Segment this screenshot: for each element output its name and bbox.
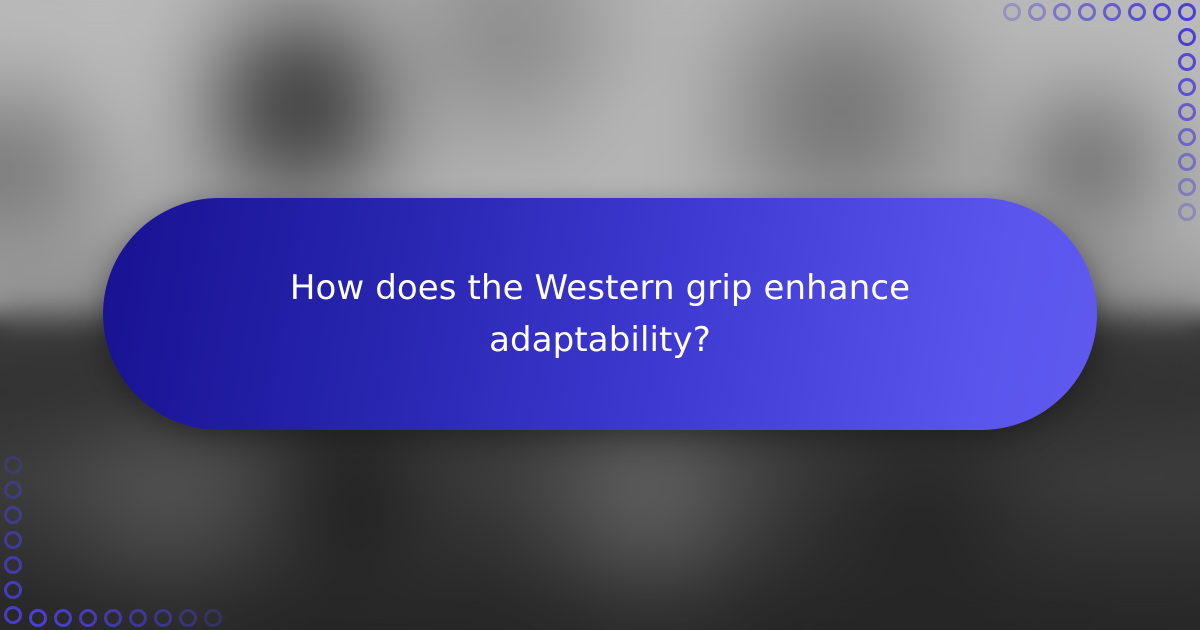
decorative-dot (1178, 203, 1196, 221)
decorative-dot (4, 606, 22, 624)
decorative-dot (1178, 28, 1196, 46)
decorative-dot (204, 609, 222, 627)
decorative-dots-top-right (1000, 0, 1200, 200)
decorative-dot (54, 609, 72, 627)
question-text: How does the Western grip enhance adapta… (270, 262, 930, 366)
decorative-dot (1103, 3, 1121, 21)
question-card: How does the Western grip enhance adapta… (103, 198, 1097, 430)
decorative-dot (1178, 3, 1196, 21)
decorative-dot (154, 609, 172, 627)
decorative-dot (1178, 178, 1196, 196)
decorative-dot (1003, 3, 1021, 21)
decorative-dot (29, 609, 47, 627)
decorative-dot (1028, 3, 1046, 21)
decorative-dots-bottom-left (0, 430, 200, 630)
decorative-dot (104, 609, 122, 627)
decorative-dot (4, 581, 22, 599)
decorative-dot (79, 609, 97, 627)
decorative-dot (179, 609, 197, 627)
decorative-dot (4, 506, 22, 524)
decorative-dot (1153, 3, 1171, 21)
decorative-dot (1078, 3, 1096, 21)
decorative-dot (4, 556, 22, 574)
decorative-dot (1178, 103, 1196, 121)
decorative-dot (1178, 153, 1196, 171)
decorative-dot (1178, 128, 1196, 146)
decorative-dot (4, 481, 22, 499)
decorative-dot (129, 609, 147, 627)
decorative-dot (1128, 3, 1146, 21)
decorative-dot (1053, 3, 1071, 21)
decorative-dot (1178, 53, 1196, 71)
decorative-dot (4, 531, 22, 549)
social-card-canvas: How does the Western grip enhance adapta… (0, 0, 1200, 630)
decorative-dot (1178, 78, 1196, 96)
decorative-dot (4, 456, 22, 474)
